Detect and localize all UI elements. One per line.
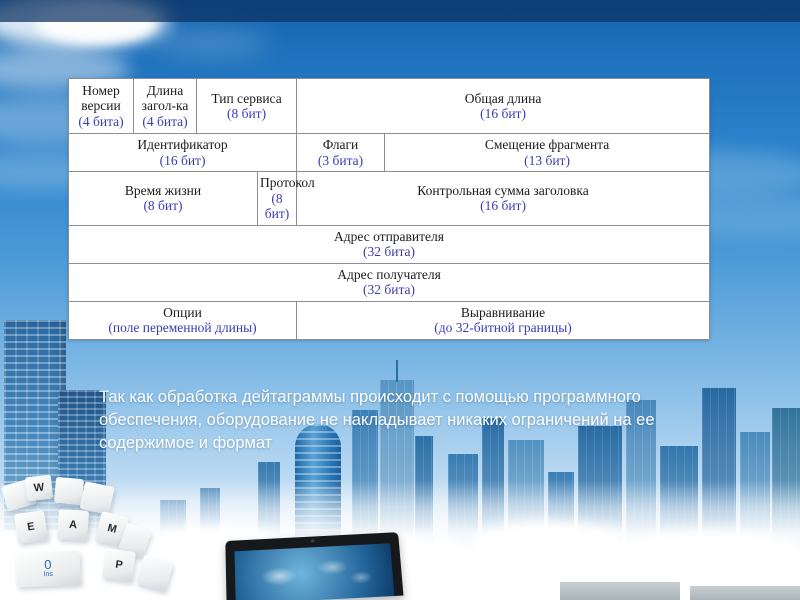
table-row: Номер версии (4 бита) Длина загол-ка (4 … (69, 79, 710, 134)
field-flags: Флаги (3 бита) (297, 134, 385, 172)
cloud (150, 30, 270, 56)
field-fragment-offset: Смещение фрагмента (13 бит) (385, 134, 710, 172)
field-source-address: Адрес отправителя (32 бита) (69, 225, 710, 263)
slide: W E A M 0 Ins P Номер версии (4 бита) (0, 0, 800, 600)
cloud (620, 532, 800, 570)
foreground-shape (560, 582, 680, 600)
table-row: Время жизни (8 бит) Протокол (8 бит) Кон… (69, 172, 710, 226)
field-version: Номер версии (4 бита) (69, 79, 134, 134)
field-padding: Выравнивание (до 32-битной границы) (297, 301, 710, 339)
key-cap-a: A (57, 509, 89, 541)
antenna (396, 360, 398, 382)
field-destination-address: Адрес получателя (32 бита) (69, 263, 710, 301)
ip-header-table: Номер версии (4 бита) Длина загол-ка (4 … (68, 78, 710, 340)
key-zero-digit: 0 (44, 559, 52, 571)
field-header-checksum: Контрольная сумма заголовка (16 бит) (297, 172, 710, 226)
foreground-shape (690, 586, 800, 600)
field-time-to-live: Время жизни (8 бит) (69, 172, 258, 226)
table-row: Адрес получателя (32 бита) (69, 263, 710, 301)
key-cap-p: P (102, 548, 136, 582)
field-total-length: Общая длина (16 бит) (297, 79, 710, 134)
field-protocol: Протокол (8 бит) (258, 172, 297, 226)
field-options: Опции (поле переменной длины) (69, 301, 297, 339)
key-cap-zero: 0 Ins (15, 551, 80, 587)
field-identification: Идентификатор (16 бит) (69, 134, 297, 172)
field-header-length: Длина загол-ка (4 бита) (134, 79, 197, 134)
laptop-screen (235, 543, 395, 600)
table-body: Номер версии (4 бита) Длина загол-ка (4 … (69, 79, 710, 340)
key-cap (79, 481, 114, 515)
key-cap-e: E (14, 510, 48, 544)
table-row: Адрес отправителя (32 бита) (69, 225, 710, 263)
cloud (470, 522, 630, 564)
laptop-lid (225, 532, 403, 600)
table-row: Идентификатор (16 бит) Флаги (3 бита) См… (69, 134, 710, 172)
webcam-icon (310, 539, 314, 542)
key-cap-w: W (25, 475, 53, 502)
key-cap (136, 554, 173, 591)
key-zero-sublabel: Ins (43, 571, 53, 579)
top-band (0, 0, 800, 22)
field-type-of-service: Тип сервиса (8 бит) (197, 79, 297, 134)
keyboard-keys-graphic: W E A M 0 Ins P (0, 465, 190, 600)
table-row: Опции (поле переменной длины) Выравниван… (69, 301, 710, 339)
key-cap (54, 477, 84, 505)
slide-caption: Так как обработка дейтаграммы происходит… (99, 386, 679, 455)
laptop-graphic (218, 530, 408, 600)
